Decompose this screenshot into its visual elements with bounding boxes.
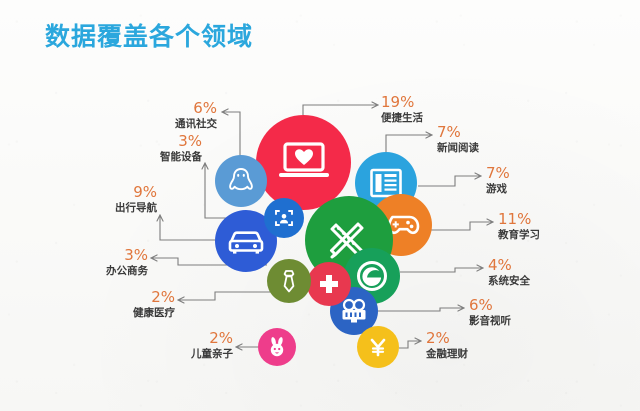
label-social: 6% 通讯社交 — [155, 101, 217, 130]
bubble-smart-device[interactable] — [264, 198, 304, 238]
label-social-name: 通讯社交 — [155, 119, 217, 130]
label-security-percent: 4% — [488, 258, 530, 273]
label-health: 2% 健康医疗 — [113, 290, 175, 319]
label-kids-percent: 2% — [173, 331, 233, 346]
label-security-name: 系统安全 — [488, 276, 530, 287]
label-office-percent: 3% — [86, 248, 148, 263]
label-media-name: 影音视听 — [469, 316, 511, 327]
label-smart-device-name: 智能设备 — [140, 152, 202, 163]
label-travel: 9% 出行导航 — [95, 185, 157, 214]
label-smart-device-percent: 3% — [140, 134, 202, 149]
bubble-health[interactable] — [307, 262, 351, 306]
bubble-finance[interactable] — [357, 326, 399, 368]
label-education-percent: 11% — [498, 212, 540, 227]
penguin-icon — [225, 165, 257, 197]
laptop-heart-icon — [277, 140, 331, 186]
label-news-name: 新闻阅读 — [437, 143, 479, 154]
label-life: 19% 便捷生活 — [381, 95, 423, 124]
label-health-name: 健康医疗 — [113, 308, 175, 319]
label-game-percent: 7% — [486, 166, 510, 181]
label-education: 11% 教育学习 — [498, 212, 540, 241]
film-projector-icon — [339, 297, 369, 325]
label-game-name: 游戏 — [486, 184, 510, 195]
label-media-percent: 6% — [469, 298, 511, 313]
label-game: 7% 游戏 — [486, 166, 510, 195]
medical-cross-icon — [316, 271, 342, 297]
bubble-office[interactable] — [267, 259, 311, 303]
rabbit-icon — [265, 335, 289, 359]
label-kids-name: 儿童亲子 — [173, 349, 233, 360]
label-travel-percent: 9% — [95, 185, 157, 200]
label-media: 6% 影音视听 — [469, 298, 511, 327]
label-social-percent: 6% — [155, 101, 217, 116]
label-life-name: 便捷生活 — [381, 113, 423, 124]
label-kids: 2% 儿童亲子 — [173, 331, 233, 360]
label-life-percent: 19% — [381, 95, 423, 110]
label-news-percent: 7% — [437, 125, 479, 140]
bubble-social[interactable] — [215, 155, 267, 207]
label-finance-name: 金融理财 — [426, 349, 468, 360]
yen-coin-icon — [366, 335, 390, 359]
face-scan-icon — [272, 206, 296, 230]
label-health-percent: 2% — [113, 290, 175, 305]
bubble-kids[interactable] — [258, 328, 296, 366]
label-security: 4% 系统安全 — [488, 258, 530, 287]
infographic-canvas: 数据覆盖各个领域 — [0, 0, 640, 411]
car-icon — [226, 225, 266, 257]
label-education-name: 教育学习 — [498, 230, 540, 241]
label-office-name: 办公商务 — [86, 266, 148, 277]
label-office: 3% 办公商务 — [86, 248, 148, 277]
necktie-icon — [277, 268, 301, 294]
label-finance: 2% 金融理财 — [426, 331, 468, 360]
label-news: 7% 新闻阅读 — [437, 125, 479, 154]
label-smart-device: 3% 智能设备 — [140, 134, 202, 163]
bubble-life[interactable] — [256, 115, 351, 210]
label-travel-name: 出行导航 — [95, 203, 157, 214]
label-finance-percent: 2% — [426, 331, 468, 346]
